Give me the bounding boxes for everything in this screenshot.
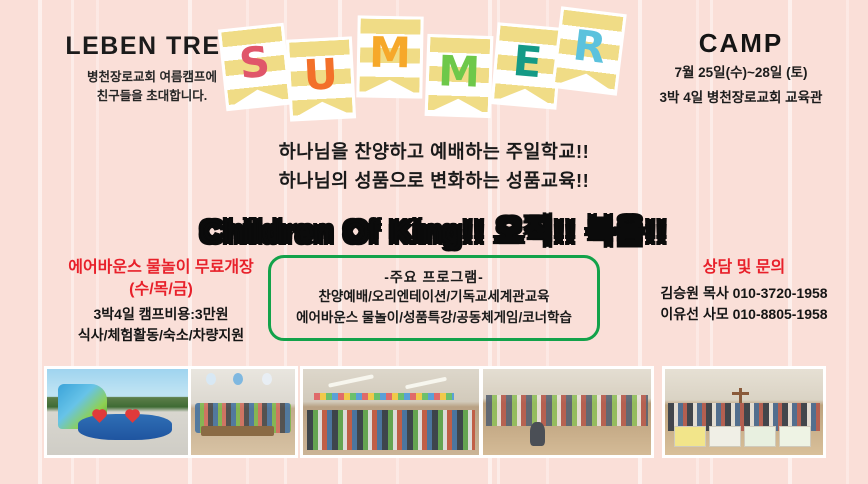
photo-thumbnail <box>44 366 192 458</box>
left-info-headline-1: 에어바운스 물놀이 무료개장 <box>48 257 274 279</box>
photo-group-hall <box>303 369 479 455</box>
verse-line-1: 하나님을 찬양하고 예배하는 주일학교!! <box>0 138 868 167</box>
program-line-1: 찬양예배/오리엔테이션/기독교세계관교육 <box>318 287 549 308</box>
banner-flag-m2: M <box>425 34 494 118</box>
photo-floor-sitting <box>483 369 651 455</box>
verse-line-2: 하나님의 성품으로 변화하는 성품교육!! <box>0 167 868 196</box>
banner-flag-m1: M <box>356 15 423 98</box>
left-info-headline-2: (수/목/금) <box>48 279 274 301</box>
banner-letter-s: S <box>237 41 271 86</box>
camp-block: CAMP 7월 25일(수)~28일 (토) 3박 4일 병천장로교회 교육관 <box>624 28 858 108</box>
main-title: Children Of King!! 오직!! 복음!! <box>0 206 868 251</box>
summer-banner: S U M M E R <box>222 8 622 120</box>
photo-thumbnail <box>662 366 826 458</box>
camp-date: 7월 25일(수)~28일 (토) <box>624 62 858 84</box>
contact-person-2: 이유선 사모 010-8805-1958 <box>628 304 860 325</box>
camp-place: 3박 4일 병천장로교회 교육관 <box>624 87 858 109</box>
program-heading: -주요 프로그램- <box>384 267 484 287</box>
banner-flag-s: S <box>218 23 292 111</box>
banner-letter-m-first: M <box>369 32 412 75</box>
left-info-block: 에어바운스 물놀이 무료개장 (수/목/금) 3박4일 캠프비용:3만원 식사/… <box>48 257 274 346</box>
banner-letter-r: R <box>571 24 608 70</box>
contact-heading: 상담 및 문의 <box>628 257 860 279</box>
banner-letter-e: E <box>511 40 543 84</box>
left-info-line-1: 3박4일 캠프비용:3만원 <box>48 304 274 325</box>
contact-block: 상담 및 문의 김승원 목사 010-3720-1958 이유선 사모 010-… <box>628 257 860 325</box>
program-box: -주요 프로그램- 찬양예배/오리엔테이션/기독교세계관교육 에어바운스 물놀이… <box>268 255 600 341</box>
banner-flag-e: E <box>491 22 564 109</box>
banner-letter-m-second: M <box>438 50 481 93</box>
photo-group-banners <box>665 369 823 455</box>
photo-thumbnail <box>480 366 654 458</box>
photo-water-slide <box>47 369 189 455</box>
left-info-line-2: 식사/체험활동/숙소/차량지원 <box>48 325 274 346</box>
program-line-2: 에어바운스 물놀이/성품특강/공동체게임/코너학습 <box>296 308 572 329</box>
photo-dining-hall <box>191 369 295 455</box>
camp-title: CAMP <box>624 28 858 59</box>
photo-thumbnail <box>188 366 298 458</box>
contact-person-1: 김승원 목사 010-3720-1958 <box>628 283 860 304</box>
poster-root: LEBEN TREE 병천장로교회 여름캠프에 친구들을 초대합니다. S U … <box>0 0 868 484</box>
photo-thumbnail <box>300 366 482 458</box>
banner-flag-u: U <box>286 36 356 121</box>
photo-strip <box>0 366 868 458</box>
banner-flag-r: R <box>551 6 627 95</box>
banner-letter-u: U <box>303 53 339 97</box>
verse-block: 하나님을 찬양하고 예배하는 주일학교!! 하나님의 성품으로 변화하는 성품교… <box>0 138 868 195</box>
